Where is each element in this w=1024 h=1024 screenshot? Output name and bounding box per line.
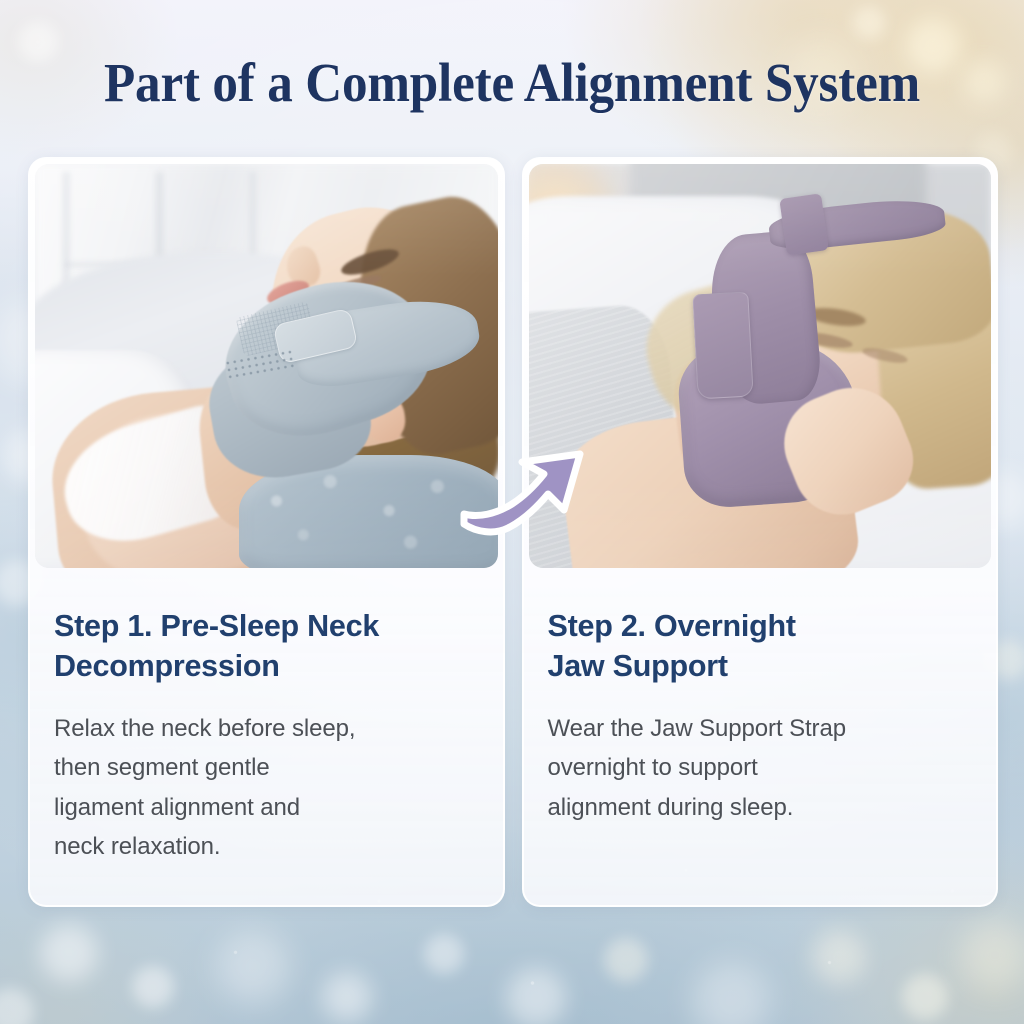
step-1-body: Relax the neck before sleep, then segmen… [54,709,479,867]
step-2-body: Wear the Jaw Support Strap overnight to … [548,709,973,828]
step-1-text: Step 1. Pre-Sleep Neck Decompression Rel… [30,568,503,867]
jaw-support-strap-tab [692,292,753,400]
step-1-photo [35,164,498,568]
steps-container: Step 1. Pre-Sleep Neck Decompression Rel… [28,157,998,907]
step-2-photo [529,164,992,568]
jaw-support-strap-top-tab [779,194,828,256]
step-card-1[interactable]: Step 1. Pre-Sleep Neck Decompression Rel… [28,157,505,907]
step-card-2[interactable]: Step 2. Overnight Jaw Support Wear the J… [522,157,999,907]
step-1-heading: Step 1. Pre-Sleep Neck Decompression [54,606,479,687]
page-title: Part of a Complete Alignment System [36,54,988,112]
step-2-heading: Step 2. Overnight Jaw Support [548,606,973,687]
step-2-text: Step 2. Overnight Jaw Support Wear the J… [524,568,997,827]
